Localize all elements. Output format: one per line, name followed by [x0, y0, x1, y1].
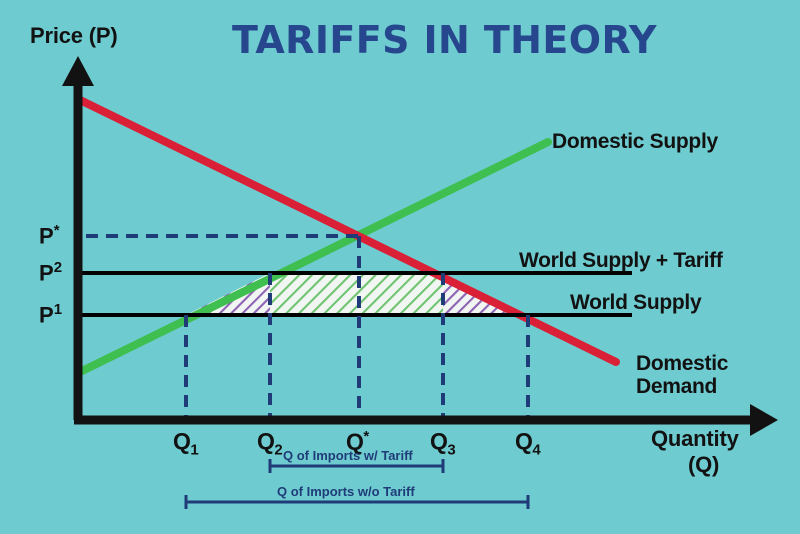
price-tick-p-one: P1: [39, 302, 62, 328]
quantity-tick-q-two-base: Q: [257, 428, 274, 454]
x-axis-title-line1: Quantity: [651, 427, 739, 452]
price-tick-p-one-base: P: [39, 302, 54, 327]
quantity-tick-q-one-mark: 1: [190, 442, 198, 459]
x-axis-arrowhead: [750, 404, 778, 436]
quantity-tick-q-four-mark: 4: [532, 442, 540, 459]
y-axis-title: Price (P): [30, 24, 117, 49]
quantity-tick-q-two: Q2: [257, 429, 282, 459]
quantity-tick-q-three: Q3: [430, 429, 455, 459]
domestic-demand-label-line2: Demand: [636, 375, 717, 399]
quantity-tick-q-star-mark: *: [363, 428, 368, 445]
y-axis-arrowhead: [62, 56, 94, 86]
quantity-tick-q-three-mark: 3: [447, 442, 455, 459]
quantity-tick-q-three-base: Q: [430, 428, 447, 454]
price-tick-p-star: P*: [39, 223, 60, 249]
bracket-label-imports-without-tariff: Q of Imports w/o Tariff: [277, 484, 415, 499]
x-axis-title-line2: (Q): [688, 453, 719, 478]
price-tick-p-two-base: P: [39, 260, 54, 285]
domestic-supply-curve: [80, 142, 548, 372]
price-tick-p-star-mark: *: [54, 222, 60, 239]
region-tariff-revenue: [270, 273, 443, 315]
quantity-tick-q-four-base: Q: [515, 428, 532, 454]
domestic-demand-curve: [80, 100, 616, 362]
domestic-demand-label-line1: Domestic: [636, 352, 728, 376]
quantity-tick-q-one-base: Q: [173, 428, 190, 454]
region-production-deadweight-loss: [186, 273, 270, 315]
price-tick-p-star-base: P: [39, 223, 54, 248]
world-supply-plus-tariff-label: World Supply + Tariff: [519, 249, 723, 273]
price-tick-p-two-mark: 2: [54, 259, 62, 276]
price-tick-p-one-mark: 1: [54, 301, 62, 318]
quantity-tick-q-one: Q1: [173, 429, 198, 459]
quantity-tick-q-four: Q4: [515, 429, 540, 459]
price-tick-p-two: P2: [39, 260, 62, 286]
bracket-label-imports-with-tariff: Q of Imports w/ Tariff: [283, 448, 413, 463]
tariff-diagram-canvas: TARIFFS IN THEORY: [0, 0, 800, 534]
quantity-tick-q-two-mark: 2: [274, 442, 282, 459]
domestic-supply-label: Domestic Supply: [552, 130, 718, 154]
world-supply-label: World Supply: [570, 291, 701, 315]
